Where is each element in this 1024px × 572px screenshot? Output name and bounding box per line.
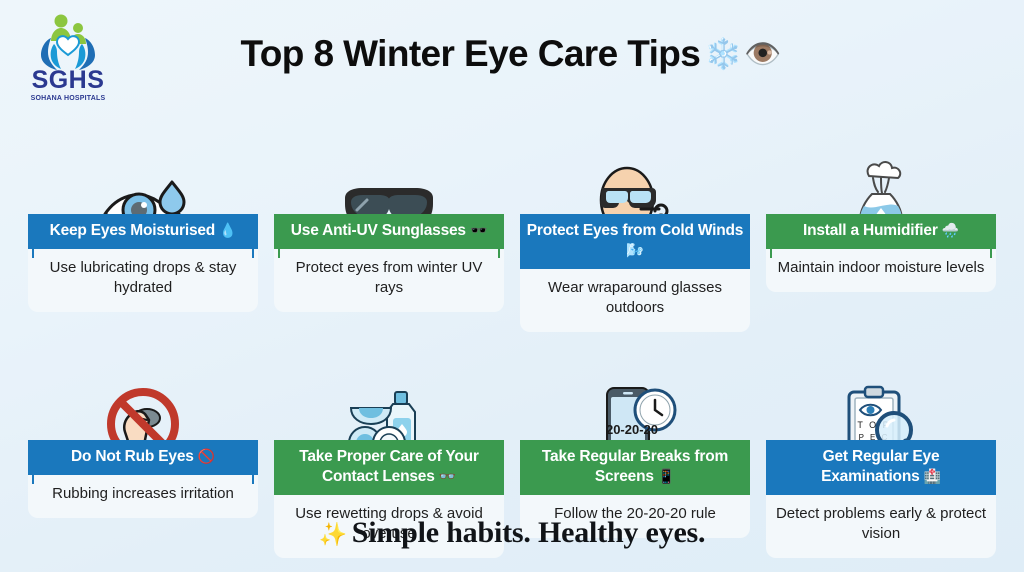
card-description: Use lubricating drops & stay hydrated: [28, 249, 258, 303]
card-body: Protect Eyes from Cold Winds 🌬️ Wear wra…: [520, 214, 750, 332]
sunglasses-emoji-icon: 🕶️: [470, 222, 487, 238]
mobile-phone-icon: 📱: [658, 468, 675, 484]
card-title: Keep Eyes Moisturised: [50, 222, 216, 239]
wind-icon: 🌬️: [626, 242, 643, 258]
card-body: Do Not Rub Eyes 🚫 Rubbing increases irri…: [28, 440, 258, 518]
hospital-icon: 🏥: [924, 468, 941, 484]
card-title-band: Install a Humidifier 🌧️: [766, 214, 996, 249]
page-header: SGHS SOHANA HOSPITALS Top 8 Winter Eye C…: [0, 0, 1024, 112]
card-description: Rubbing increases irritation: [28, 475, 258, 508]
card-title-band: Take Proper Care of Your Contact Lenses …: [274, 440, 504, 495]
card-body: Install a Humidifier 🌧️ Maintain indoor …: [766, 214, 996, 292]
card-title-band: Take Regular Breaks from Screens 📱: [520, 440, 750, 495]
icon-label-20-20-20: 20-20-20: [606, 422, 658, 437]
rain-cloud-icon: 🌧️: [942, 222, 959, 238]
water-drop-icon: 💧: [219, 222, 236, 238]
sparkles-icon: ✨: [319, 521, 348, 547]
card-title-band: Do Not Rub Eyes 🚫: [28, 440, 258, 475]
card-title-band: Get Regular Eye Examinations 🏥: [766, 440, 996, 495]
card-title: Get Regular Eye Examinations: [821, 448, 939, 485]
footer-tagline: Simple habits. Healthy eyes.: [352, 516, 706, 549]
title-emoji-snowflake-eye: ❄️👁️: [705, 38, 784, 71]
brand-tagline: SOHANA HOSPITALS: [31, 95, 106, 102]
card-title-band: Use Anti-UV Sunglasses 🕶️: [274, 214, 504, 249]
tip-card-use-anti-uv-sunglasses: Use Anti-UV Sunglasses 🕶️ Protect eyes f…: [274, 112, 504, 332]
page-title: Top 8 Winter Eye Care Tips: [241, 34, 701, 75]
page-footer: ✨ Simple habits. Healthy eyes.: [0, 516, 1024, 550]
card-title: Do Not Rub Eyes: [71, 448, 194, 465]
prohibited-icon: 🚫: [198, 448, 215, 464]
card-description: Maintain indoor moisture levels: [766, 249, 996, 282]
page-title-wrap: Top 8 Winter Eye Care Tips ❄️👁️: [0, 34, 1024, 75]
card-title: Protect Eyes from Cold Winds: [527, 222, 743, 239]
card-body: Keep Eyes Moisturised 💧 Use lubricating …: [28, 214, 258, 312]
card-title-band: Keep Eyes Moisturised 💧: [28, 214, 258, 249]
card-title: Use Anti-UV Sunglasses: [291, 222, 466, 239]
card-title-band: Protect Eyes from Cold Winds 🌬️: [520, 214, 750, 269]
glasses-icon: 👓: [439, 468, 456, 484]
tips-grid: Keep Eyes Moisturised 💧 Use lubricating …: [28, 112, 996, 558]
card-title: Take Regular Breaks from Screens: [542, 448, 728, 485]
tip-card-protect-eyes-from-cold-winds: Protect Eyes from Cold Winds 🌬️ Wear wra…: [520, 112, 750, 332]
tip-card-install-a-humidifier: Install a Humidifier 🌧️ Maintain indoor …: [766, 112, 996, 332]
card-description: Wear wraparound glasses outdoors: [520, 269, 750, 323]
tip-card-keep-eyes-moisturised: Keep Eyes Moisturised 💧 Use lubricating …: [28, 112, 258, 332]
card-body: Use Anti-UV Sunglasses 🕶️ Protect eyes f…: [274, 214, 504, 312]
card-description: Protect eyes from winter UV rays: [274, 249, 504, 303]
card-title: Install a Humidifier: [803, 222, 938, 239]
